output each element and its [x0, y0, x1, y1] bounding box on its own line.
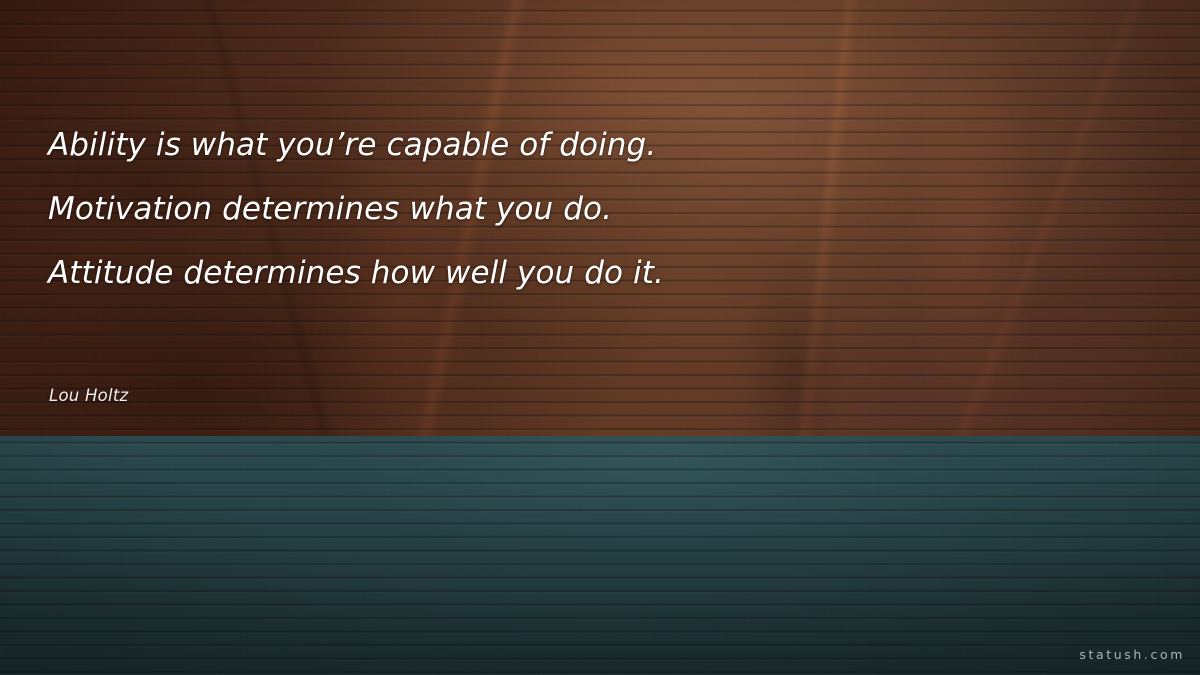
- quote-line-2: Motivation determines what you do.: [48, 177, 1108, 241]
- quote-author: Lou Holtz: [49, 386, 128, 405]
- quote-text-block: Ability is what you’re capable of doing.…: [48, 113, 1108, 305]
- quote-poster: Ability is what you’re capable of doing.…: [0, 0, 1200, 675]
- quote-line-1: Ability is what you’re capable of doing.: [48, 113, 1108, 177]
- poster-content: Ability is what you’re capable of doing.…: [0, 0, 1200, 675]
- quote-line-3: Attitude determines how well you do it.: [48, 241, 1108, 305]
- site-watermark: statush.com: [1079, 647, 1185, 662]
